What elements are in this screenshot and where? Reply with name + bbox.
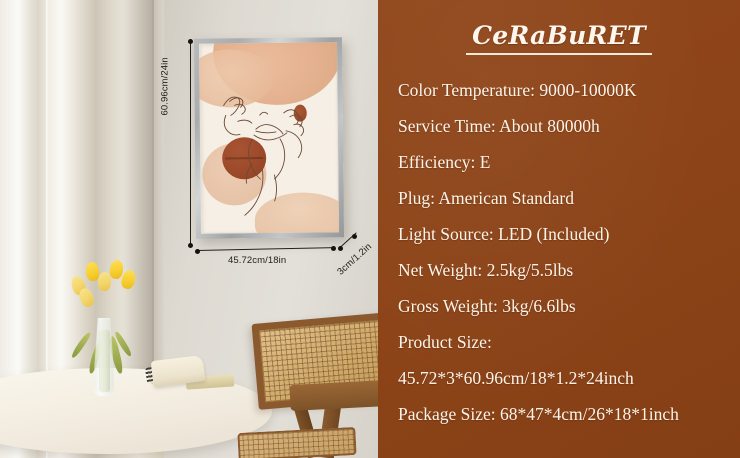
spec-line-color-temperature: Color Temperature: 9000-10000K [398, 72, 732, 108]
dimension-endpoint-dot [352, 234, 357, 239]
dimension-endpoint-dot [188, 243, 193, 248]
chair-seat [237, 427, 356, 458]
spec-line-package-size: Package Size: 68*47*4cm/26*18*1inch [398, 396, 732, 432]
spec-line-product-size-label: Product Size: [398, 324, 732, 360]
dimension-label-width: 45.72cm/18in [228, 255, 286, 266]
dimension-endpoint-dot [188, 39, 193, 44]
spec-line-product-size-value: 45.72*3*60.96cm/18*1.2*24inch [398, 360, 732, 396]
brand-logo: CeRaBuRET [378, 21, 740, 55]
spec-line-plug: Plug: American Standard [398, 180, 732, 216]
poster-artwork [199, 42, 339, 233]
product-lifestyle-photo: 60.96cm/24in 45.72cm/18in 3cm/1.2in [0, 0, 378, 458]
specification-panel: CeRaBuRET Color Temperature: 9000-10000K… [378, 0, 740, 458]
spec-line-efficiency: Efficiency: E [398, 144, 732, 180]
brand-underline [466, 53, 652, 55]
dimension-label-height: 60.96cm/24in [160, 57, 171, 115]
dimension-endpoint-dot [195, 249, 200, 254]
product-listing-image: 60.96cm/24in 45.72cm/18in 3cm/1.2in CeRa… [0, 0, 740, 458]
brand-name: CeRaBuRET [472, 21, 646, 50]
chair-armrest [289, 379, 378, 411]
spec-line-net-weight: Net Weight: 2.5kg/5.5lbs [398, 252, 732, 288]
spec-line-light-source: Light Source: LED (Included) [398, 216, 732, 252]
spec-line-service-time: Service Time: About 80000h [398, 108, 732, 144]
dimension-endpoint-dot [338, 246, 343, 251]
spec-line-gross-weight: Gross Weight: 3kg/6.6lbs [398, 288, 732, 324]
dimension-endpoint-dot [331, 246, 336, 251]
specification-list: Color Temperature: 9000-10000K Service T… [398, 72, 732, 432]
artwork-face-line-drawing [199, 42, 339, 233]
framed-poster [194, 37, 344, 239]
dimension-line-height [190, 42, 191, 246]
